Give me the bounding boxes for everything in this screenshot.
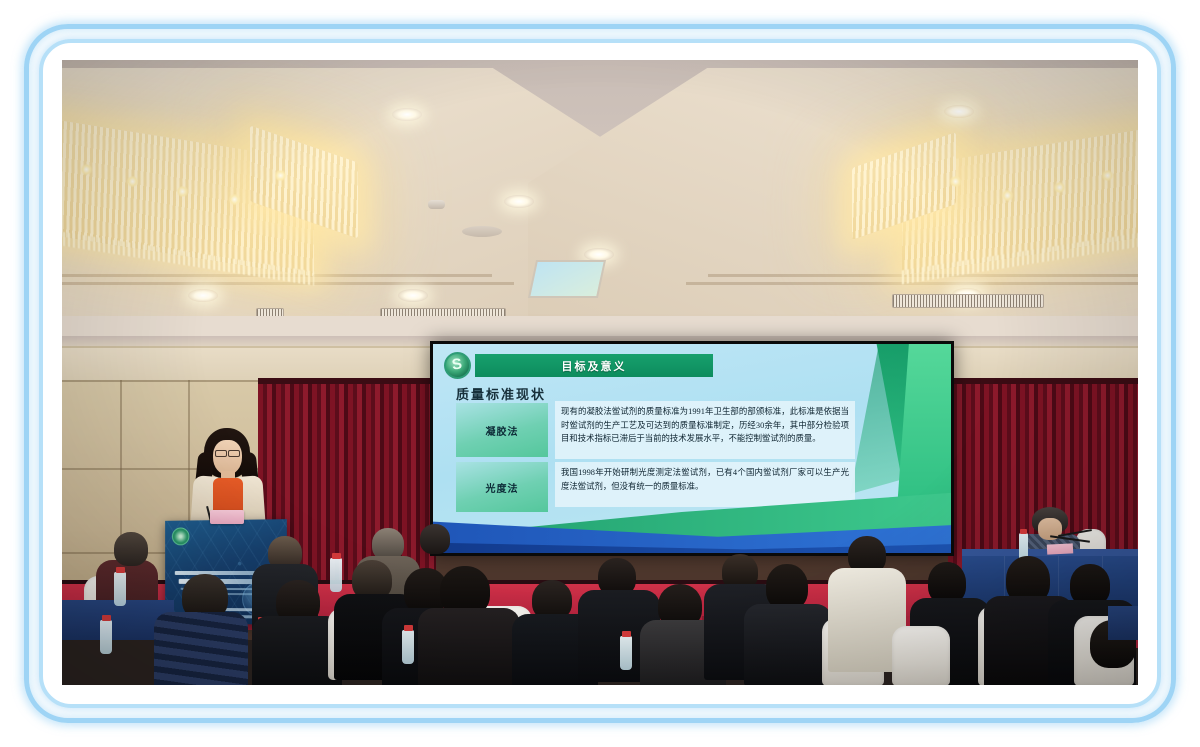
projection-screen: S 目标及意义 质量标准现状 凝胶法 现有的凝胶法鲎试剂的质量标准为1991年卫… (430, 341, 954, 556)
presentation-slide: S 目标及意义 质量标准现状 凝胶法 现有的凝胶法鲎试剂的质量标准为1991年卫… (433, 344, 951, 553)
organization-logo-icon: S (444, 352, 471, 379)
audience-torso (418, 608, 520, 685)
chandelier-bulb (126, 176, 139, 187)
slide-paragraph-photometric: 我国1998年开始研制光度测定法鲎试剂，已有4个国内鲎试剂厂家可以生产光度法鲎试… (555, 462, 855, 507)
pink-document (1047, 543, 1073, 554)
chandelier-bulb (1101, 170, 1114, 181)
slide-subheading: 质量标准现状 (456, 384, 546, 403)
downlight (398, 289, 428, 302)
slide-title-bar: 目标及意义 (475, 354, 713, 377)
chandelier-bulb (274, 170, 287, 181)
audience-torso (744, 604, 832, 685)
water-bottle (330, 558, 342, 592)
audience-torso (154, 612, 248, 685)
chandelier-bulb (80, 164, 93, 175)
water-bottle (114, 572, 126, 606)
audience-head (420, 524, 450, 554)
slide-tag-label: 凝胶法 (486, 423, 519, 438)
slide-tag-label: 光度法 (486, 480, 519, 495)
water-bottle (402, 630, 414, 664)
presenter-glasses-left (215, 450, 227, 457)
ceiling-soffit (62, 316, 1138, 338)
chandelier-bulb (1001, 190, 1014, 201)
slide-title: 目标及意义 (562, 358, 627, 374)
conference-logo-icon (172, 527, 190, 545)
chandelier-bulb (228, 194, 241, 205)
projector-panel (528, 260, 606, 298)
conference-photograph: S 目标及意义 质量标准现状 凝胶法 现有的凝胶法鲎试剂的质量标准为1991年卫… (62, 60, 1138, 685)
downlight (944, 105, 974, 118)
ceiling-vent-oval (462, 226, 502, 237)
presenter-face (213, 440, 242, 475)
audience-head (114, 532, 148, 566)
smoke-detector-icon (428, 200, 445, 209)
downlight (392, 108, 422, 121)
water-bottle (620, 636, 632, 670)
audience-row-table (1108, 606, 1138, 640)
hvac-grille (892, 294, 1044, 308)
downlight (188, 289, 218, 302)
lectern-name-card (210, 510, 244, 524)
chandelier-bulb (949, 176, 962, 187)
slide-paragraph-gel: 现有的凝胶法鲎试剂的质量标准为1991年卫生部的部颁标准，此标准是依据当时鲎试剂… (555, 401, 855, 459)
slide-tag-box-photometric: 光度法 (456, 462, 548, 512)
logo-glyph: S (451, 356, 463, 372)
chandelier-bulb (1053, 182, 1066, 193)
slide-tag-box-gel: 凝胶法 (456, 403, 548, 457)
cornice-left-2 (62, 282, 514, 285)
presenter-glasses-right (228, 450, 240, 457)
chandelier-bulb (176, 186, 189, 197)
water-bottle (100, 620, 112, 654)
downlight (504, 195, 534, 208)
audience-chair (892, 626, 950, 685)
